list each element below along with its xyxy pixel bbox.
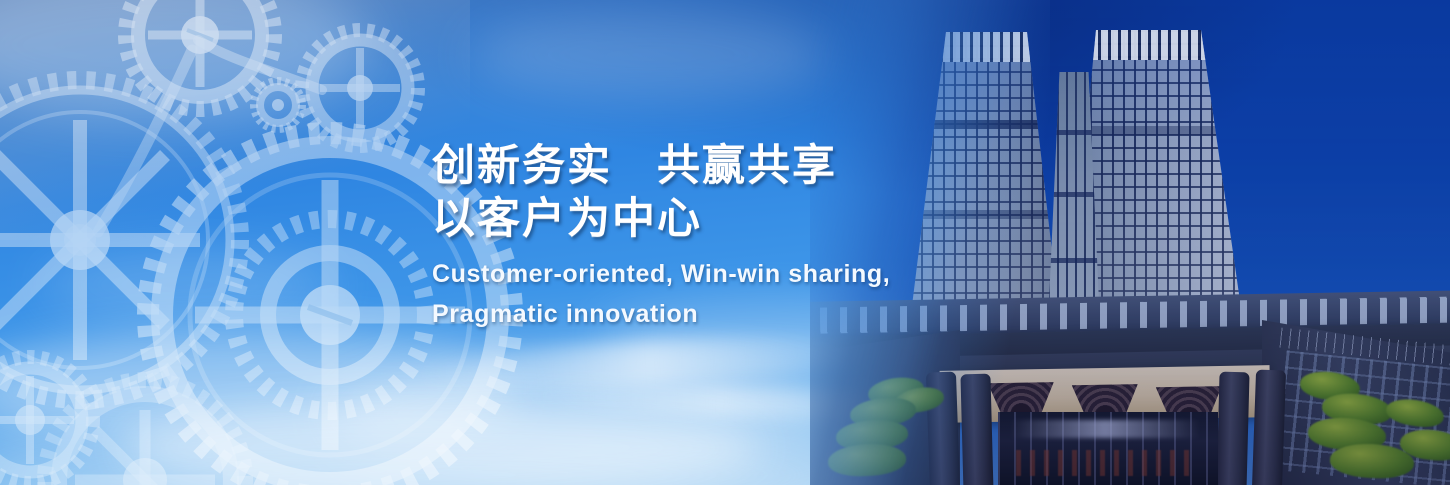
entrance-column: [1216, 372, 1249, 485]
entrance-column: [1252, 370, 1286, 485]
subtitle-line-1: Customer-oriented, Win-win sharing,: [432, 254, 992, 294]
headline-line-1: 创新务实 共赢共享: [432, 140, 992, 193]
banner-copy: 创新务实 共赢共享 以客户为中心 Customer-oriented, Win-…: [432, 140, 992, 334]
entrance-column: [960, 374, 993, 485]
headline-line-2: 以客户为中心: [432, 193, 992, 246]
corporate-hero-banner: 创新务实 共赢共享 以客户为中心 Customer-oriented, Win-…: [0, 0, 1450, 485]
spine-band: [1048, 258, 1100, 263]
entrance-warm-light: [1016, 450, 1196, 476]
entrance-interior-light: [1010, 420, 1200, 438]
subtitle-line-2: Pragmatic innovation: [432, 294, 992, 334]
spine-band: [1048, 192, 1100, 197]
